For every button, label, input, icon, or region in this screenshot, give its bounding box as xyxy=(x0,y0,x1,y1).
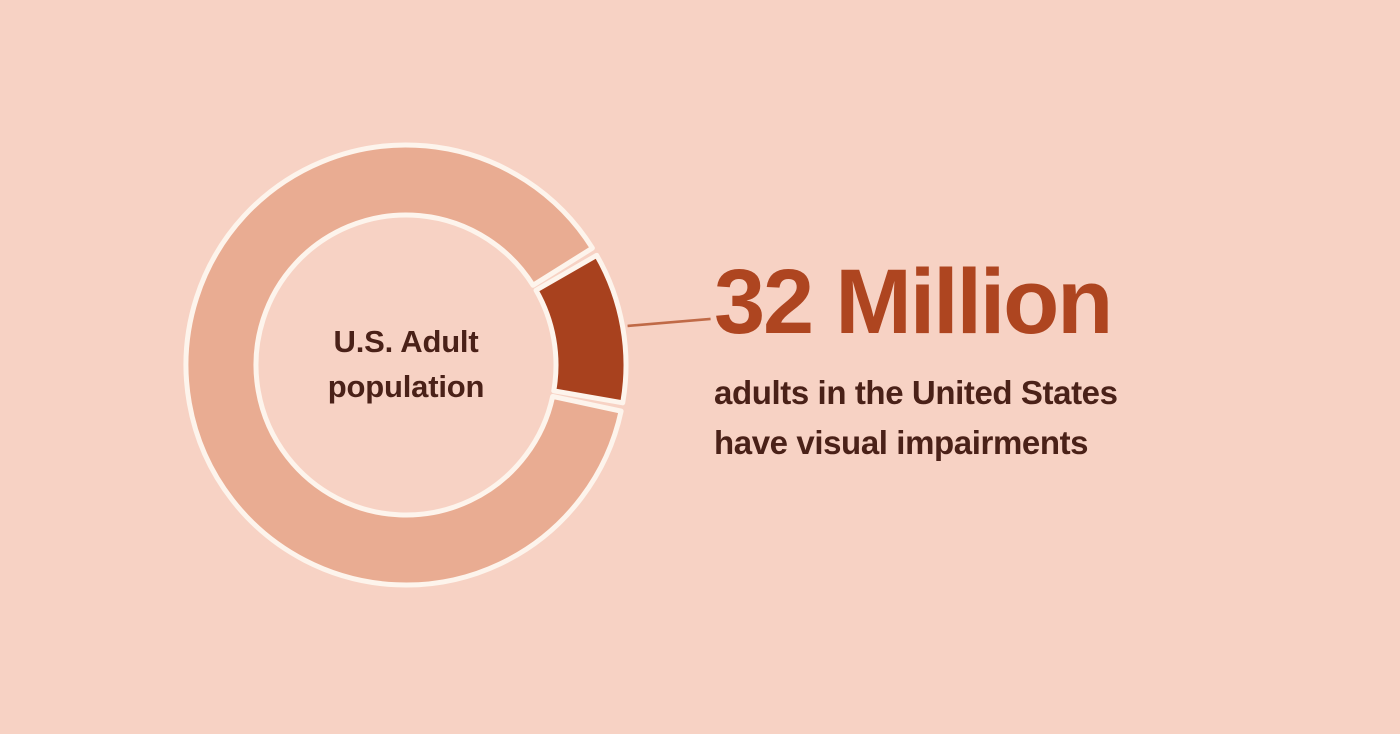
donut-chart: U.S. Adult population xyxy=(186,145,626,585)
callout-headline: 32 Million xyxy=(714,258,1334,346)
callout-body-line-2: have visual impairments xyxy=(714,418,1334,468)
donut-chart-svg xyxy=(186,145,626,585)
callout-block: 32 Million adults in the United States h… xyxy=(714,258,1334,467)
infographic-canvas: U.S. Adult population 32 Million adults … xyxy=(0,0,1400,734)
callout-leader-line xyxy=(628,319,711,326)
callout-body: adults in the United States have visual … xyxy=(714,368,1334,467)
callout-body-line-1: adults in the United States xyxy=(714,368,1334,418)
